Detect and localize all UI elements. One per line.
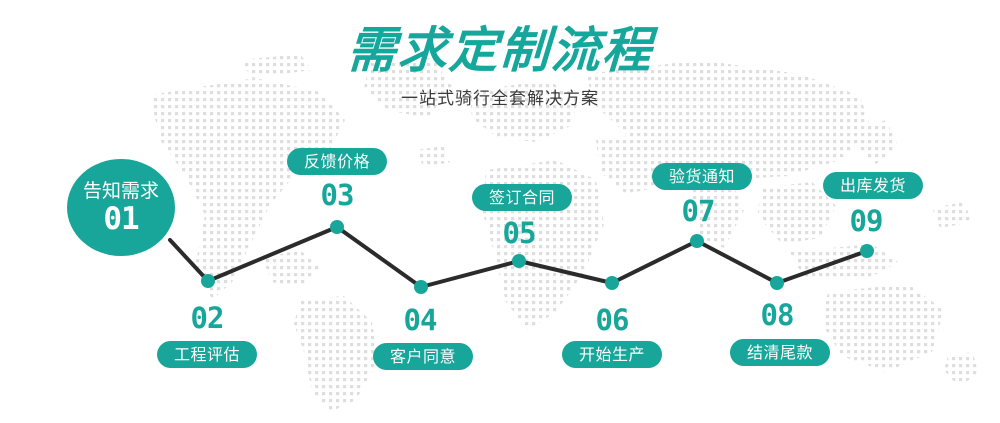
flow-step-number-09: 09 xyxy=(826,206,906,236)
flow-step-number-07: 07 xyxy=(658,196,738,226)
flow-step-dot-03[interactable] xyxy=(330,220,344,234)
flow-step-badge-07[interactable]: 验货通知 xyxy=(652,163,752,190)
flow-step-number-08: 08 xyxy=(737,300,817,330)
page-title: 需求定制流程 xyxy=(345,22,654,80)
page-subtitle: 一站式骑行全套解决方案 xyxy=(0,88,1000,110)
flow-step-badge-06[interactable]: 开始生产 xyxy=(562,341,662,368)
flow-step-dot-02[interactable] xyxy=(201,274,215,288)
flow-step-badge-04[interactable]: 客户同意 xyxy=(373,343,473,370)
flow-step-dot-05[interactable] xyxy=(512,254,526,268)
flow-step-dot-08[interactable] xyxy=(770,276,784,290)
flow-step-badge-03[interactable]: 反馈价格 xyxy=(287,148,387,175)
flow-step-number-03: 03 xyxy=(297,180,377,210)
flow-step-number-01: 01 xyxy=(103,203,138,236)
flow-step-label-01: 告知需求 xyxy=(83,180,159,202)
flow-step-dot-04[interactable] xyxy=(414,280,428,294)
header: 需求定制流程 一站式骑行全套解决方案 xyxy=(0,22,1000,110)
flow-step-number-06: 06 xyxy=(572,305,652,335)
flow-step-dot-07[interactable] xyxy=(690,234,704,248)
flow-step-number-04: 04 xyxy=(380,305,460,335)
flow-step-badge-02[interactable]: 工程评估 xyxy=(157,341,257,368)
flow-step-badge-09[interactable]: 出库发货 xyxy=(823,172,923,199)
flow-step-badge-05[interactable]: 签订合同 xyxy=(472,184,572,211)
flow-step-number-05: 05 xyxy=(479,218,559,248)
flow-step-badge-08[interactable]: 结清尾款 xyxy=(730,339,830,366)
flow-step-dot-06[interactable] xyxy=(605,276,619,290)
flow-step-number-02: 02 xyxy=(167,303,247,333)
infographic-canvas: 需求定制流程 一站式骑行全套解决方案 告知需求0102工程评估03反馈价格04客… xyxy=(0,0,1000,423)
flow-step-dot-09[interactable] xyxy=(860,244,874,258)
flow-step-circle-01[interactable]: 告知需求01 xyxy=(67,159,175,256)
